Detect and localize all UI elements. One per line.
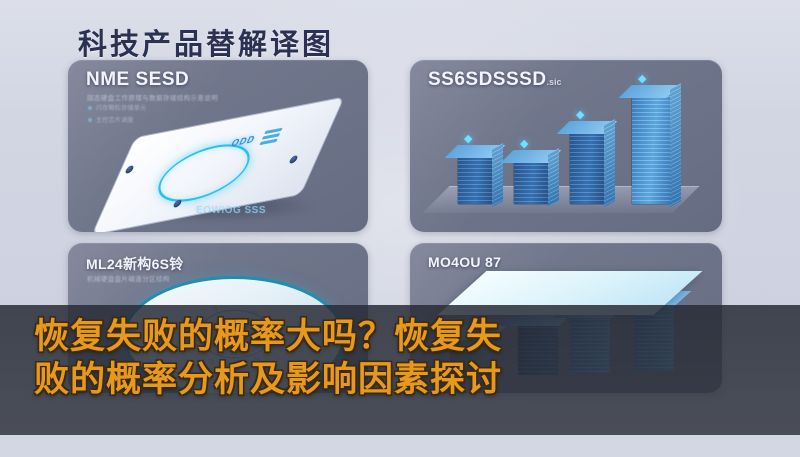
bar-side — [670, 83, 681, 207]
panel-title-chart: SS6SDSSSD.sic — [428, 69, 562, 91]
bar-glyph-icon: ◆ — [520, 137, 528, 150]
bullet-label: 闪存颗粒存储单元 — [96, 103, 146, 112]
bar-chart-illustration: ◆ ◆ ◆ ◆ — [432, 100, 704, 222]
chart-bar: ◆ — [632, 92, 670, 204]
screenshot-stage: 科技产品替解译图 NME SESD 固态硬盘工作原理与数据存储结构示意说明 闪存… — [0, 0, 800, 457]
panel-ssd: NME SESD 固态硬盘工作原理与数据存储结构示意说明 闪存颗粒存储单元 主控… — [68, 60, 368, 232]
panel-bar-chart: SS6SDSSSD.sic ◆ ◆ ◆ ◆ — [410, 60, 722, 232]
chart-bar: ◆ — [570, 128, 604, 204]
ssd-watermark: EOWIOG SSS — [196, 205, 266, 216]
footer-band — [0, 435, 800, 457]
chart-bar: ◆ — [514, 157, 548, 204]
chart-title-suffix: .sic — [547, 77, 562, 87]
bar-glyph-icon: ◆ — [464, 132, 472, 145]
page-title: 科技产品替解译图 — [78, 21, 334, 63]
bar-glyph-icon: ◆ — [576, 108, 584, 121]
bullet-item: 闪存颗粒存储单元 — [88, 103, 146, 112]
panel-title-ssd: NME SESD — [86, 69, 189, 91]
caption-text: 恢复失败的概率大吗？恢复失 败的概率分析及影响因素探讨 — [0, 316, 800, 401]
bar-side — [492, 143, 503, 207]
panel-title-platter: ML24新构6S铃 — [86, 254, 184, 274]
bar-glyph-icon: ◆ — [638, 72, 646, 85]
chart-title-text: SS6SDSSSD — [428, 69, 547, 90]
bar-side — [604, 119, 615, 207]
chart-bar: ◆ — [458, 152, 492, 204]
panel-subtitle-ssd: 固态硬盘工作原理与数据存储结构示意说明 — [87, 92, 218, 102]
bullet-dot-icon — [88, 106, 92, 110]
bar-side — [548, 148, 559, 207]
